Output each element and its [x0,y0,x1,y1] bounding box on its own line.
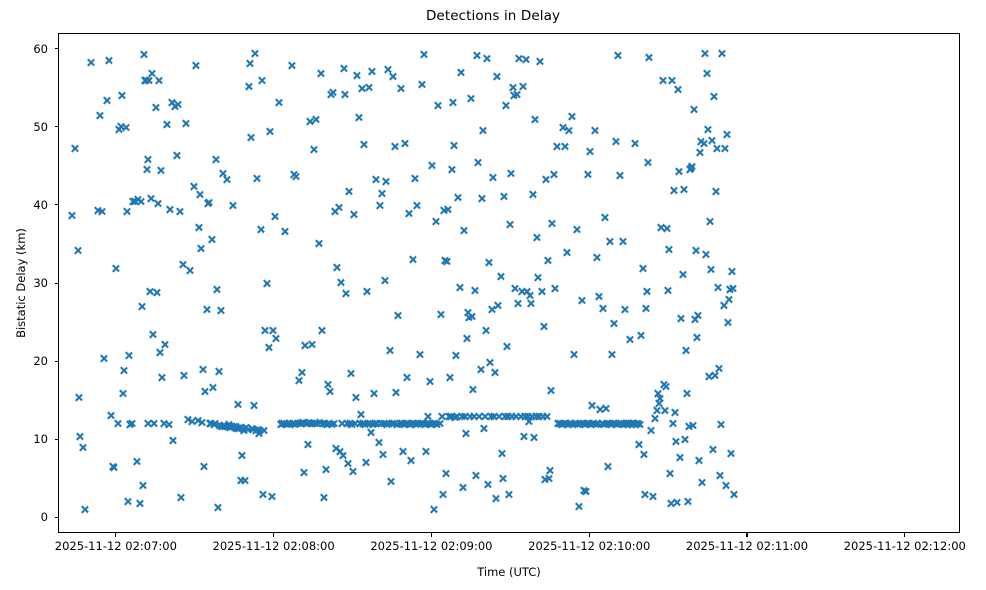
x-tick-label: 2025-11-12 02:12:00 [805,539,986,553]
x-tick-mark [904,533,905,537]
x-axis-ticks: 2025-11-12 02:07:002025-11-12 02:08:0020… [0,0,986,590]
x-tick-mark [746,533,747,537]
x-tick-mark [273,533,274,537]
x-tick-mark [589,533,590,537]
matplotlib-figure: Detections in Delay 0102030405060 Bistat… [0,0,986,590]
x-tick-mark [431,533,432,537]
x-tick-mark [115,533,116,537]
x-axis-label: Time (UTC) [58,565,960,579]
